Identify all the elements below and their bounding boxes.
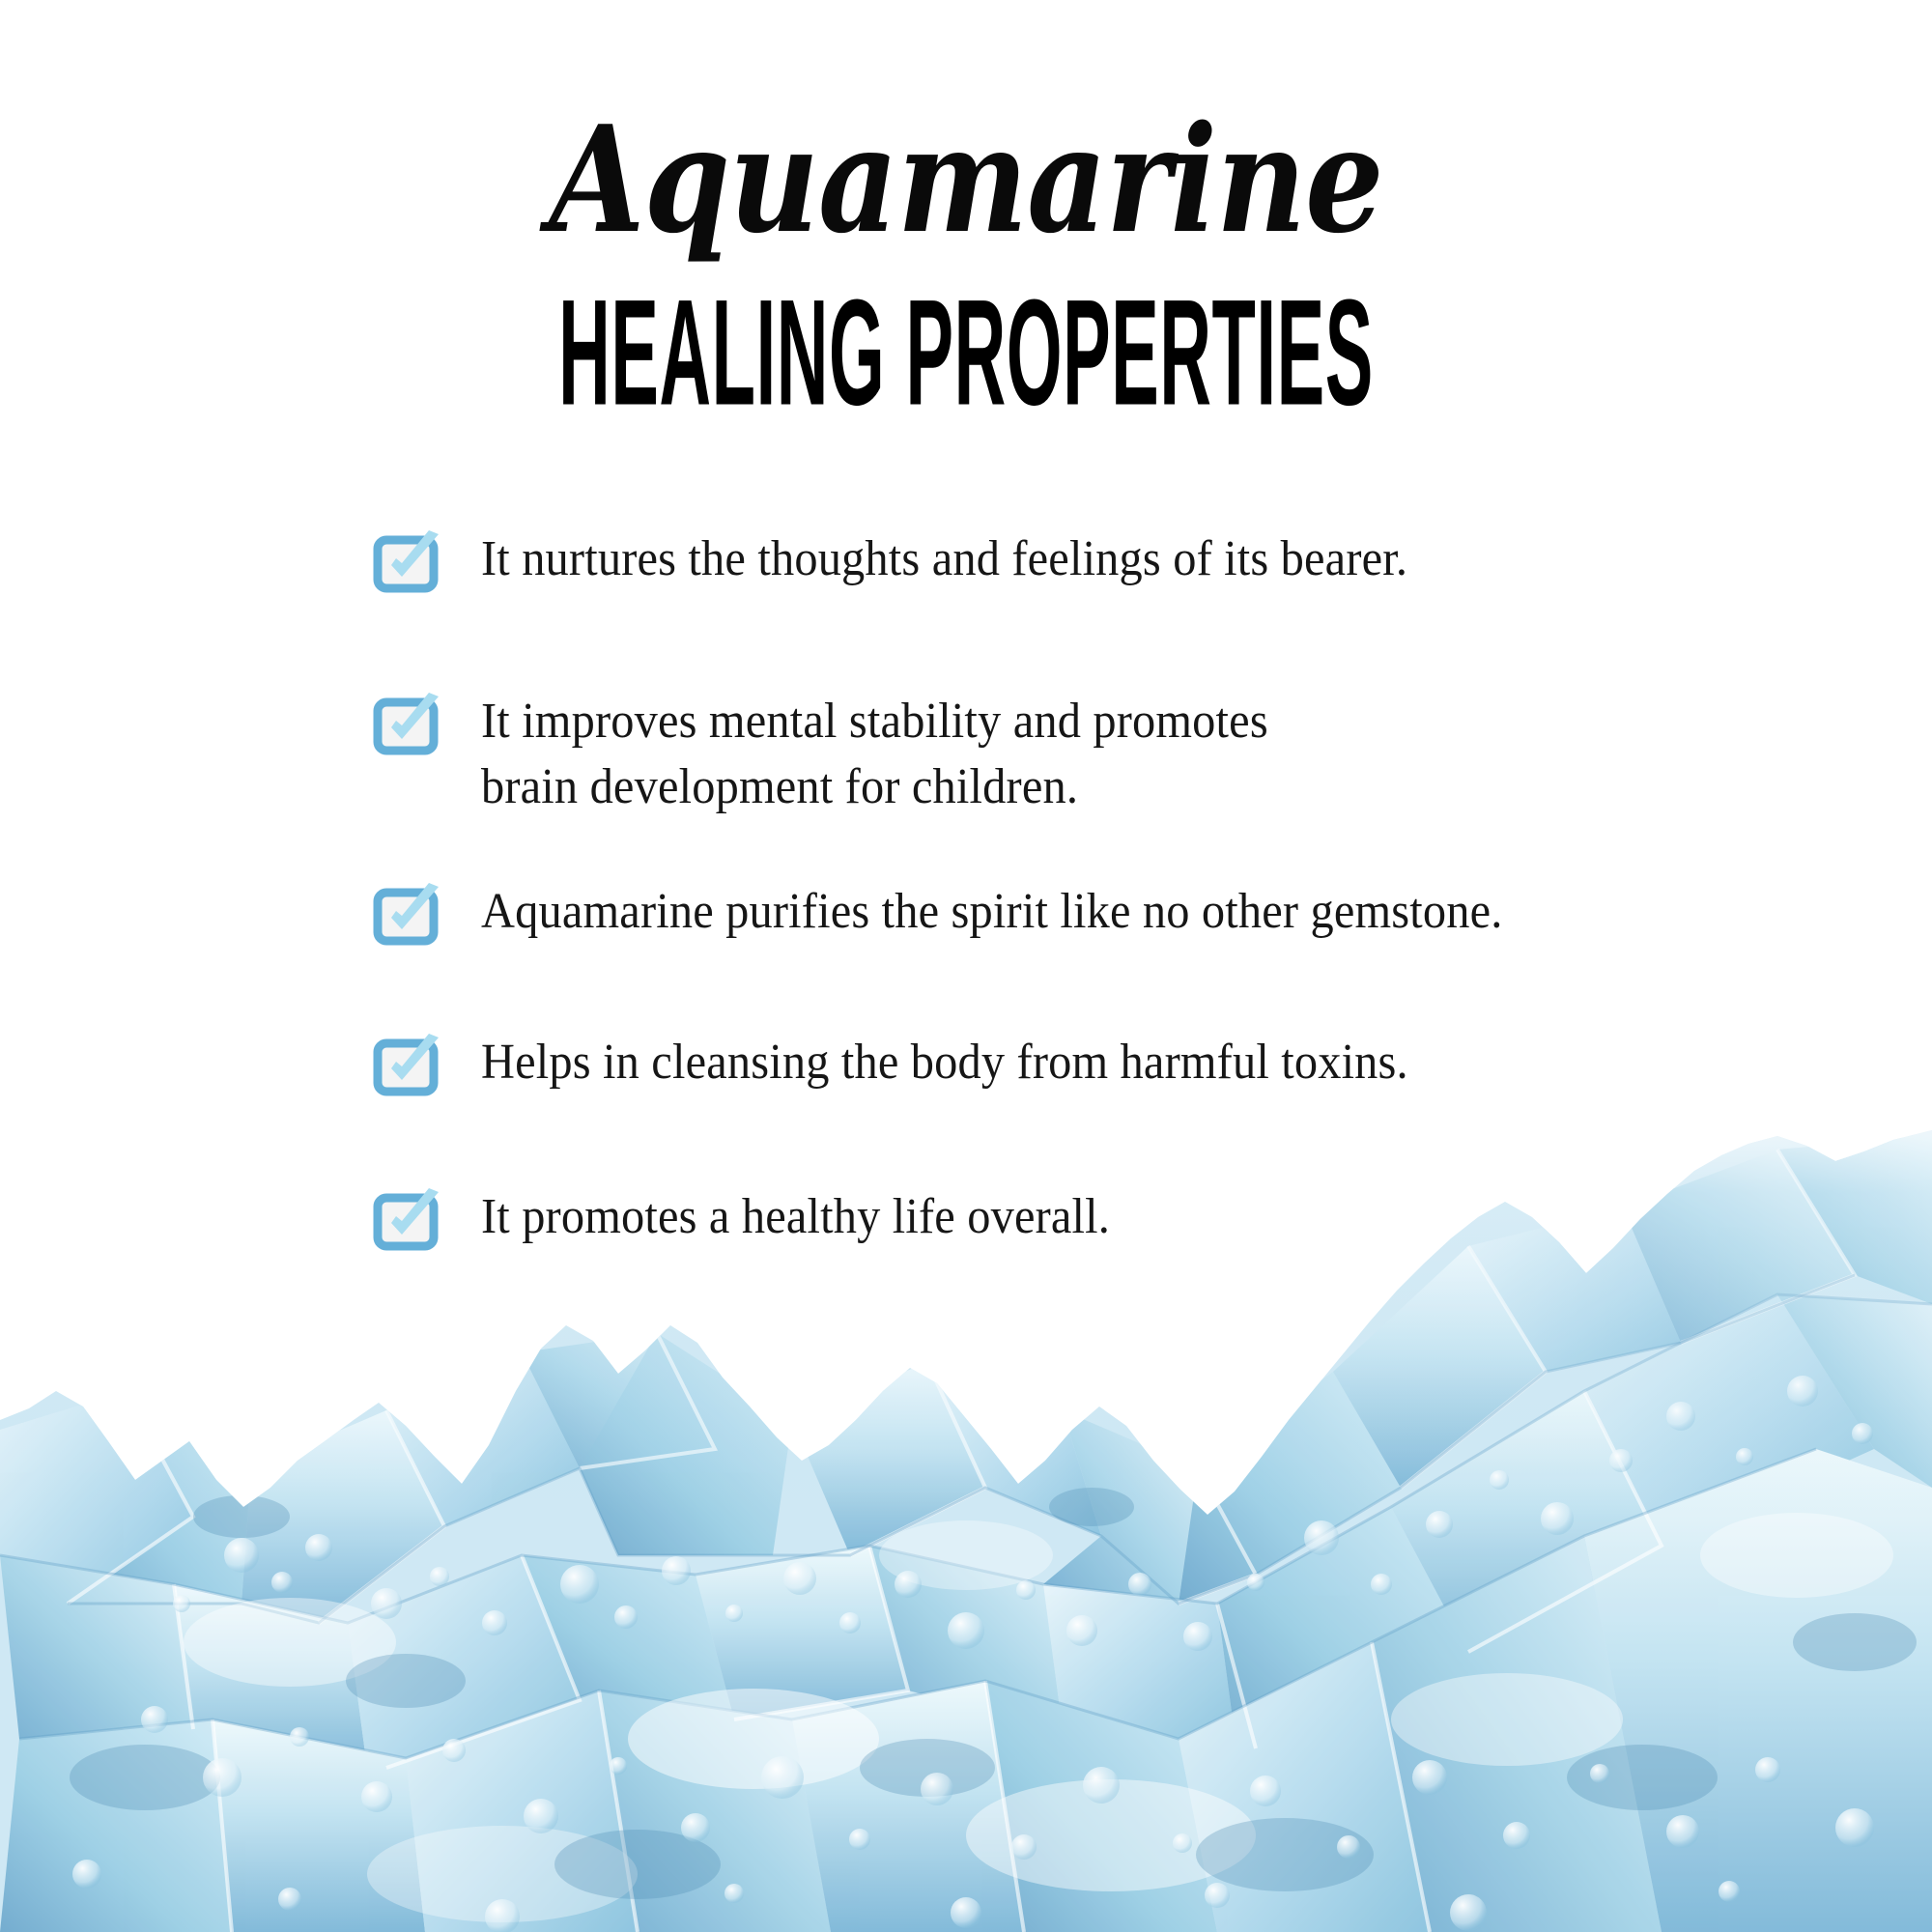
list-item: It nurtures the thoughts and feelings of…	[375, 526, 1631, 592]
list-item: Helps in cleansing the body from harmful…	[375, 1030, 1631, 1095]
checkbox-checked-icon	[375, 1036, 440, 1095]
list-item-label: Aquamarine purifies the spirit like no o…	[481, 879, 1503, 945]
list-item-label: It improves mental stability and promote…	[481, 689, 1268, 819]
poster-header: Aquamarine HEALING PROPERTIES	[0, 0, 1932, 402]
checkbox-checked-icon	[375, 885, 440, 945]
checkbox-checked-icon	[375, 1190, 440, 1250]
checkbox-checked-icon	[375, 532, 440, 592]
page-title-block: HEALING PROPERTIES	[406, 278, 1526, 429]
poster-canvas: Aquamarine HEALING PROPERTIES It nurture…	[0, 0, 1932, 1932]
list-item: Aquamarine purifies the spirit like no o…	[375, 879, 1631, 945]
list-item: It promotes a healthy life overall.	[375, 1184, 1631, 1250]
list-item-label: It nurtures the thoughts and feelings of…	[481, 526, 1407, 592]
list-item-label: Helps in cleansing the body from harmful…	[481, 1030, 1408, 1095]
healing-properties-list: It nurtures the thoughts and feelings of…	[375, 526, 1631, 1250]
page-title-script: Aquamarine	[155, 106, 1777, 253]
list-item: It improves mental stability and promote…	[375, 689, 1631, 819]
checkbox-checked-icon	[375, 695, 440, 754]
list-item-label: It promotes a healthy life overall.	[481, 1184, 1110, 1250]
